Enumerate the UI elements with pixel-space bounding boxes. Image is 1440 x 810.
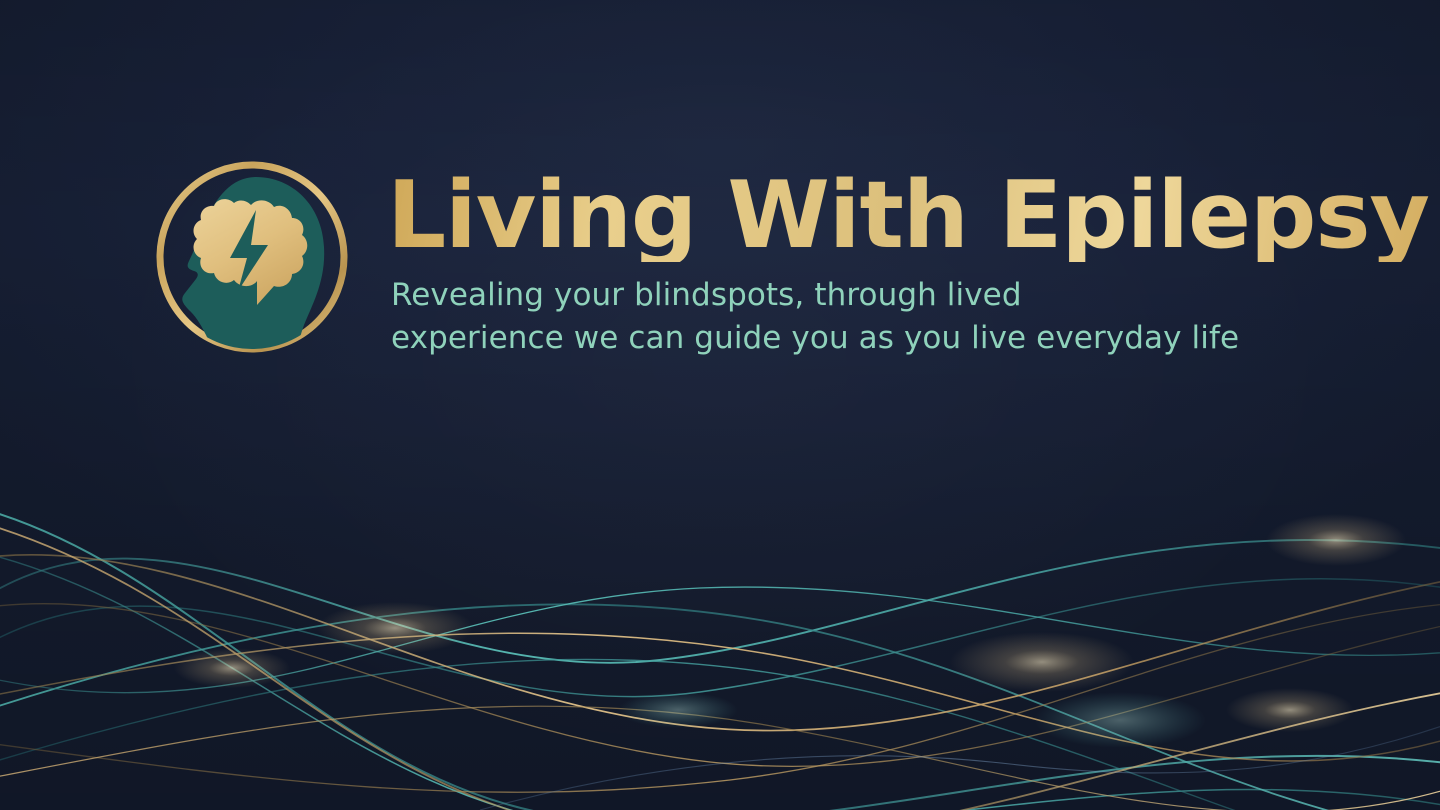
wave-glow-4: [1266, 514, 1406, 566]
page-title: Living With Epilepsy: [387, 169, 1429, 262]
wave-glow-7: [1226, 688, 1354, 732]
subtitle-line-2: experience we can guide you as you live …: [391, 317, 1271, 360]
decorative-waves: [0, 480, 1440, 810]
logo[interactable]: [152, 155, 352, 359]
subtitle-line-1: Revealing your blindspots, through lived: [391, 274, 1271, 317]
title-slide: Living With Epilepsy Revealing your blin…: [0, 0, 1440, 810]
wave-glow-2: [174, 648, 290, 688]
brand-text: Living With Epilepsy Revealing your blin…: [387, 155, 1429, 360]
wave-glow-5: [1034, 692, 1206, 748]
wave-line-teal-1: [0, 540, 1440, 663]
page-subtitle: Revealing your blindspots, through lived…: [391, 274, 1271, 360]
wave-glow-1: [317, 602, 473, 654]
brand-header: Living With Epilepsy Revealing your blin…: [152, 155, 1429, 360]
wave-glow-3: [950, 632, 1134, 692]
wave-glow-6: [618, 692, 738, 728]
